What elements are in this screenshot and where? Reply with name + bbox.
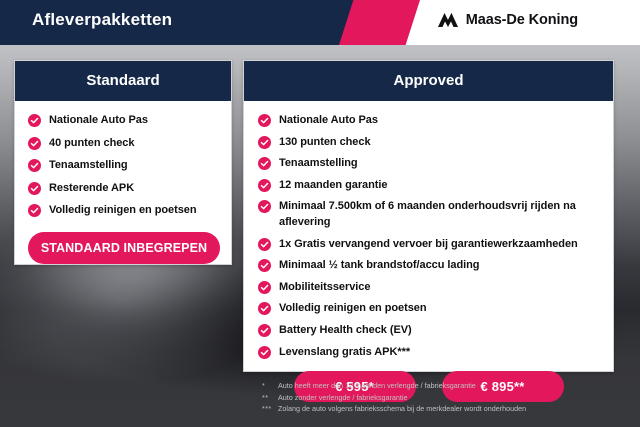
check-circle-icon xyxy=(28,182,41,195)
feature-label: Battery Health check (EV) xyxy=(279,323,412,339)
footnote-marker: ** xyxy=(262,392,278,404)
footnote-text: Auto zonder verlengde / fabrieksgarantie xyxy=(278,392,407,404)
check-circle-icon xyxy=(258,179,271,192)
feature-label: 40 punten check xyxy=(49,136,134,152)
footnote-text: Auto heeft meer dan 12 maanden verlengde… xyxy=(278,380,476,392)
feature-label: 1x Gratis vervangend vervoer bij garanti… xyxy=(279,237,578,253)
card-heading-standaard: Standaard xyxy=(15,61,231,101)
page-title: Afleverpakketten xyxy=(32,10,172,30)
feature-label: Nationale Auto Pas xyxy=(49,113,148,129)
feature-label: Minimaal 7.500km of 6 maanden onderhouds… xyxy=(279,199,599,230)
check-circle-icon xyxy=(258,281,271,294)
feature-label: Volledig reinigen en poetsen xyxy=(279,301,427,317)
feature-label: Nationale Auto Pas xyxy=(279,113,378,129)
feature-label: Levenslang gratis APK*** xyxy=(279,345,410,361)
feature-list-standaard: Nationale Auto Pas 40 punten check Tenaa… xyxy=(28,113,218,219)
feature-label: Tenaamstelling xyxy=(49,158,128,174)
feature-label: Volledig reinigen en poetsen xyxy=(49,203,197,219)
check-circle-icon xyxy=(258,157,271,170)
list-item: Volledig reinigen en poetsen xyxy=(258,301,599,317)
package-card-approved: Approved Nationale Auto Pas 130 punten c… xyxy=(243,60,614,372)
list-item: Volledig reinigen en poetsen xyxy=(28,203,218,219)
check-circle-icon xyxy=(258,238,271,251)
check-circle-icon xyxy=(28,159,41,172)
footnotes: * Auto heeft meer dan 12 maanden verleng… xyxy=(262,380,526,415)
feature-label: 130 punten check xyxy=(279,135,371,151)
feature-label: Resterende APK xyxy=(49,181,134,197)
brand-lockup: Maas-De Koning xyxy=(437,11,578,29)
footnote-line: *** Zolang de auto volgens fabrieksschem… xyxy=(262,403,526,415)
check-circle-icon xyxy=(28,204,41,217)
check-circle-icon xyxy=(28,114,41,127)
feature-label: Minimaal ½ tank brandstof/accu lading xyxy=(279,258,479,274)
feature-list-approved: Nationale Auto Pas 130 punten check Tena… xyxy=(258,113,599,360)
page-header: Afleverpakketten Maas-De Koning xyxy=(0,0,640,45)
list-item: 130 punten check xyxy=(258,135,599,151)
check-circle-icon xyxy=(258,136,271,149)
footnote-text: Zolang de auto volgens fabrieksschema bi… xyxy=(278,403,526,415)
list-item: Minimaal 7.500km of 6 maanden onderhouds… xyxy=(258,199,599,230)
list-item: Resterende APK xyxy=(28,181,218,197)
brand-name: Maas-De Koning xyxy=(466,12,578,28)
list-item: Battery Health check (EV) xyxy=(258,323,599,339)
footnote-line: ** Auto zonder verlengde / fabrieksgaran… xyxy=(262,392,526,404)
card-heading-approved: Approved xyxy=(244,61,613,101)
afleverpakketten-page: Afleverpakketten Maas-De Koning Standaar… xyxy=(0,0,640,427)
list-item: Nationale Auto Pas xyxy=(28,113,218,129)
footnote-marker: *** xyxy=(262,403,278,415)
list-item: Tenaamstelling xyxy=(258,156,599,172)
check-circle-icon xyxy=(258,324,271,337)
standaard-inbegrepen-button[interactable]: STANDAARD INBEGREPEN xyxy=(28,232,220,264)
list-item: Nationale Auto Pas xyxy=(258,113,599,129)
list-item: Minimaal ½ tank brandstof/accu lading xyxy=(258,258,599,274)
list-item: 40 punten check xyxy=(28,136,218,152)
feature-label: Tenaamstelling xyxy=(279,156,358,172)
list-item: Mobiliteitsservice xyxy=(258,280,599,296)
list-item: Tenaamstelling xyxy=(28,158,218,174)
list-item: 12 maanden garantie xyxy=(258,178,599,194)
check-circle-icon xyxy=(258,200,271,213)
list-item: Levenslang gratis APK*** xyxy=(258,345,599,361)
check-circle-icon xyxy=(258,114,271,127)
package-card-standaard: Standaard Nationale Auto Pas 40 punten c… xyxy=(14,60,232,265)
card-body-approved: Nationale Auto Pas 130 punten check Tena… xyxy=(244,101,613,402)
feature-label: Mobiliteitsservice xyxy=(279,280,370,296)
maas-de-koning-m-logo-icon xyxy=(437,11,459,29)
list-item: 1x Gratis vervangend vervoer bij garanti… xyxy=(258,237,599,253)
feature-label: 12 maanden garantie xyxy=(279,178,387,194)
check-circle-icon xyxy=(258,259,271,272)
footnote-marker: * xyxy=(262,380,278,392)
check-circle-icon xyxy=(258,302,271,315)
check-circle-icon xyxy=(28,137,41,150)
footnote-line: * Auto heeft meer dan 12 maanden verleng… xyxy=(262,380,526,392)
card-body-standaard: Nationale Auto Pas 40 punten check Tenaa… xyxy=(15,101,231,264)
check-circle-icon xyxy=(258,346,271,359)
